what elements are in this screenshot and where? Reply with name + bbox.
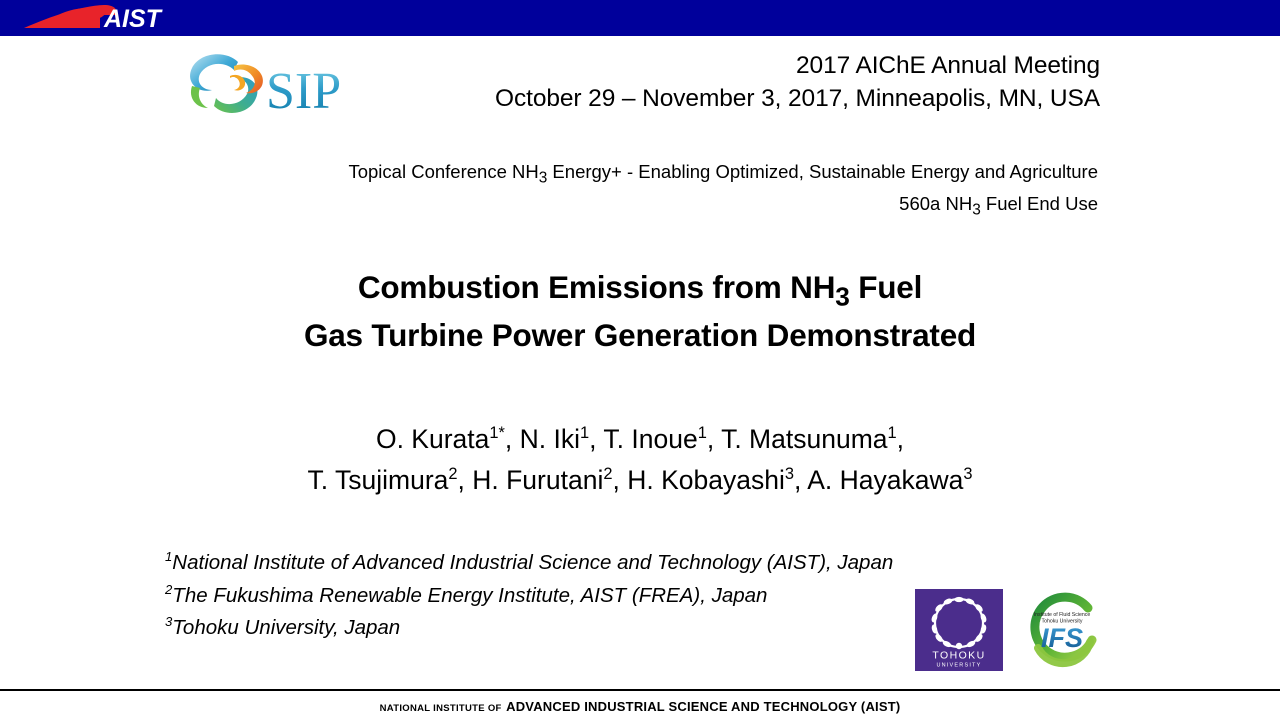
author-affiliation-marker: 1* — [489, 424, 505, 442]
title-post: Fuel — [850, 269, 923, 305]
title-line-2: Gas Turbine Power Generation Demonstrate… — [40, 316, 1240, 355]
session-line: 560a NH3 Fuel End Use — [200, 191, 1098, 223]
author-affiliation-marker: 2 — [448, 465, 457, 483]
conference-name: 2017 AIChE Annual Meeting — [460, 49, 1100, 82]
author-affiliation-marker: 3 — [963, 465, 972, 483]
affiliation-text: National Institute of Advanced Industria… — [172, 551, 893, 574]
title-pre: Combustion Emissions from NH — [358, 269, 835, 305]
page-title: Combustion Emissions from NH3 Fuel Gas T… — [40, 268, 1240, 355]
author-name: , N. Iki — [505, 424, 580, 454]
ifs-logo: Institute of Fluid Science Tohoku Univer… — [1018, 592, 1106, 668]
footer-divider — [0, 689, 1280, 691]
footer-prefix: NATIONAL INSTITUTE OF — [380, 703, 502, 714]
topical-conference-line: Topical Conference NH3 Energy+ - Enablin… — [200, 159, 1098, 191]
author-affiliation-marker: 1 — [698, 424, 707, 442]
author-line-2: T. Tsujimura2, H. Furutani2, H. Kobayash… — [40, 460, 1240, 501]
ifs-acronym: IFS — [1041, 623, 1083, 653]
conference-header: 2017 AIChE Annual Meeting October 29 – N… — [460, 49, 1100, 115]
author-affiliation-marker: 1 — [888, 424, 897, 442]
footer: NATIONAL INSTITUTE OF ADVANCED INDUSTRIA… — [0, 698, 1280, 716]
header-bar — [0, 0, 1280, 36]
author-line-1: O. Kurata1*, N. Iki1, T. Inoue1, T. Mats… — [40, 419, 1240, 460]
slide-canvas: AIST — [0, 0, 1280, 720]
author-affiliation-marker: 1 — [580, 424, 589, 442]
author-name: , H. Furutani — [458, 465, 604, 495]
session-pre: 560a NH — [899, 193, 972, 214]
author-name: , T. Matsunuma — [707, 424, 888, 454]
session-post: Fuel End Use — [981, 193, 1098, 214]
conference-dates-location: October 29 – November 3, 2017, Minneapol… — [460, 82, 1100, 115]
aist-wordmark: AIST — [103, 5, 164, 33]
tohoku-university-logo: TOHOKU UNIVERSITY — [915, 589, 1003, 671]
tohoku-name-line1: TOHOKU — [932, 650, 985, 662]
footer-institution: ADVANCED INDUSTRIAL SCIENCE AND TECHNOLO… — [506, 699, 900, 714]
author-name: O. Kurata — [376, 424, 489, 454]
sip-wordmark: SIP — [266, 63, 341, 120]
author-name: , T. Inoue — [589, 424, 698, 454]
author-affiliation-marker: 3 — [785, 465, 794, 483]
aist-logo: AIST — [22, 2, 182, 34]
topical-conference: Topical Conference NH3 Energy+ - Enablin… — [200, 159, 1098, 222]
title-line-1: Combustion Emissions from NH3 Fuel — [40, 268, 1240, 316]
sip-swirl-mark — [190, 54, 263, 113]
affiliation-text: The Fukushima Renewable Energy Institute… — [172, 584, 767, 607]
ifs-subtitle-line1: Institute of Fluid Science — [1034, 612, 1091, 618]
topical-post: Energy+ - Enabling Optimized, Sustainabl… — [547, 161, 1098, 182]
author-name: T. Tsujimura — [308, 465, 449, 495]
title-subscript: 3 — [835, 281, 849, 311]
affiliation-item: 1National Institute of Advanced Industri… — [165, 547, 1065, 580]
author-list: O. Kurata1*, N. Iki1, T. Inoue1, T. Mats… — [40, 419, 1240, 501]
sip-logo: SIP — [178, 46, 348, 128]
topical-subscript: 3 — [539, 170, 548, 187]
author-name: , — [897, 424, 904, 454]
session-subscript: 3 — [972, 201, 981, 218]
author-name: , A. Hayakawa — [794, 465, 963, 495]
affiliation-text: Tohoku University, Japan — [172, 616, 400, 639]
author-name: , H. Kobayashi — [612, 465, 784, 495]
tohoku-name-line2: UNIVERSITY — [936, 663, 981, 669]
topical-pre: Topical Conference NH — [348, 161, 538, 182]
